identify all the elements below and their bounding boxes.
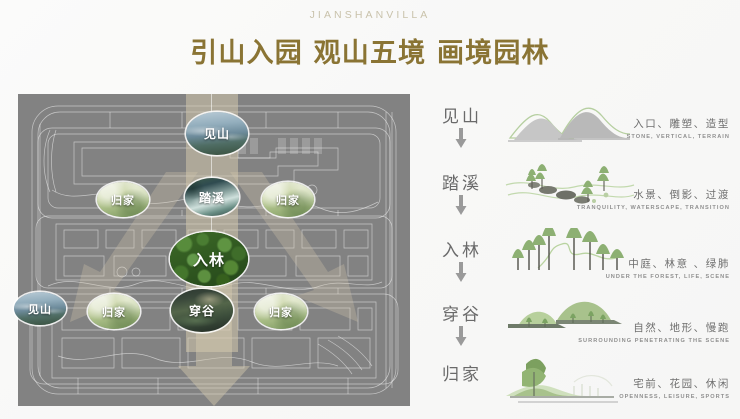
journey-step-1-caption: 入口、雕塑、造型 STONE, VERTICAL, TERRAIN xyxy=(554,116,730,140)
journey-step-2-caption-cn: 水景、倒影、过渡 xyxy=(554,187,730,202)
plan-marker-1[interactable]: 见山 xyxy=(186,112,248,155)
plan-marker-2-label: 归家 xyxy=(111,192,135,208)
plan-marker-6[interactable]: 见山 xyxy=(14,292,66,325)
slide-root: JIANSHANVILLA 引山入园 观山五境 画境园林 xyxy=(0,0,740,419)
plan-marker-8[interactable]: 穿谷 xyxy=(171,289,233,332)
plan-marker-3[interactable]: 踏溪 xyxy=(185,178,239,216)
journey-step-5[interactable]: 归家 宅前、花园、休闲 OPENNESS, LEISURE, SPORTS xyxy=(432,354,732,412)
journey-step-5-name: 归家 xyxy=(442,360,482,385)
plan-marker-1-label: 见山 xyxy=(204,125,230,142)
plan-marker-7[interactable]: 归家 xyxy=(88,294,140,329)
journey-step-3[interactable]: 入林 中庭、林意 、绿肺 UNDER THE FOREST xyxy=(432,230,732,288)
journey-step-4[interactable]: 穿谷 自然、地形、慢跑 SURROUNDING PENETRATING xyxy=(432,294,732,352)
site-plan[interactable]: 见山归家踏溪归家入林见山归家穿谷归家 xyxy=(18,94,410,406)
down-arrow-icon-4 xyxy=(454,326,468,346)
journey-step-5-caption: 宅前、花园、休闲 OPENNESS, LEISURE, SPORTS xyxy=(554,376,730,400)
plan-marker-4[interactable]: 归家 xyxy=(262,182,314,217)
journey-step-2[interactable]: 踏溪 xyxy=(432,163,732,221)
journey-step-3-caption: 中庭、林意 、绿肺 UNDER THE FOREST, LIFE, SCENE xyxy=(554,256,730,280)
journey-step-2-caption-en: TRANQUILITY, WATERSCAPE, TRANSITION xyxy=(554,205,730,211)
journey-step-4-caption-cn: 自然、地形、慢跑 xyxy=(554,320,730,335)
brand-wordmark: JIANSHANVILLA xyxy=(0,9,740,21)
journey-step-5-caption-cn: 宅前、花园、休闲 xyxy=(554,376,730,391)
plan-marker-2[interactable]: 归家 xyxy=(97,182,149,217)
journey-step-1-caption-en: STONE, VERTICAL, TERRAIN xyxy=(554,134,730,140)
journey-step-1-caption-cn: 入口、雕塑、造型 xyxy=(554,116,730,131)
plan-marker-3-label: 踏溪 xyxy=(199,189,225,206)
plan-marker-9[interactable]: 归家 xyxy=(255,294,307,329)
plan-marker-8-label: 穿谷 xyxy=(189,302,215,319)
journey-step-1[interactable]: 见山 入口、雕塑、造型 STONE, VERTICAL, TERRAIN xyxy=(432,96,732,154)
journey-step-2-caption: 水景、倒影、过渡 TRANQUILITY, WATERSCAPE, TRANSI… xyxy=(554,187,730,211)
journey-step-4-name: 穿谷 xyxy=(442,300,482,325)
journey-step-1-name: 见山 xyxy=(442,102,482,127)
down-arrow-icon-2 xyxy=(454,195,468,215)
journey-step-4-caption-en: SURROUNDING PENETRATING THE SCENE xyxy=(554,338,730,344)
down-arrow-icon-3 xyxy=(454,262,468,282)
plan-marker-4-label: 归家 xyxy=(276,192,300,208)
journey-step-5-caption-en: OPENNESS, LEISURE, SPORTS xyxy=(554,394,730,400)
journey-step-4-caption: 自然、地形、慢跑 SURROUNDING PENETRATING THE SCE… xyxy=(554,320,730,344)
journey-step-3-caption-en: UNDER THE FOREST, LIFE, SCENE xyxy=(554,274,730,280)
journey-sequence: 见山 入口、雕塑、造型 STONE, VERTICAL, TERRAIN 踏溪 xyxy=(432,96,732,412)
plan-marker-5-label: 入林 xyxy=(193,249,225,270)
page-title: 引山入园 观山五境 画境园林 xyxy=(0,31,740,70)
journey-step-3-caption-cn: 中庭、林意 、绿肺 xyxy=(554,256,730,271)
down-arrow-icon-1 xyxy=(454,128,468,148)
plan-marker-6-label: 见山 xyxy=(28,301,52,317)
plan-marker-9-label: 归家 xyxy=(269,304,293,320)
journey-step-2-name: 踏溪 xyxy=(442,169,482,194)
journey-step-3-name: 入林 xyxy=(442,236,482,261)
plan-marker-5[interactable]: 入林 xyxy=(170,232,248,286)
plan-marker-7-label: 归家 xyxy=(102,304,126,320)
